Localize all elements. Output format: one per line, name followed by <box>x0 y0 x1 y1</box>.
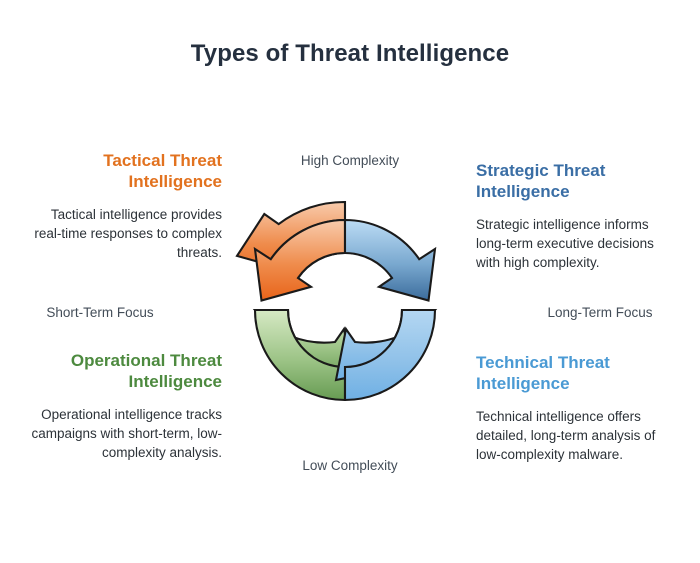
quadrant-operational-body: Operational intelligence tracks campaign… <box>22 405 222 462</box>
quadrant-technical-heading: Technical Threat Intelligence <box>476 352 672 395</box>
diagram-canvas: Types of Threat Intelligence High Comple… <box>0 0 700 563</box>
quadrant-operational-heading: Operational Threat Intelligence <box>22 350 222 393</box>
quadrant-strategic-heading: Strategic Threat Intelligence <box>476 160 672 203</box>
quadrant-technical: Technical Threat Intelligence Technical … <box>476 352 672 464</box>
arrow-segment-strategic <box>345 220 435 301</box>
quadrant-operational: Operational Threat Intelligence Operatio… <box>22 350 222 462</box>
axis-label-short-term-focus: Short-Term Focus <box>0 305 200 320</box>
quadrant-tactical-heading: Tactical Threat Intelligence <box>22 150 222 193</box>
quadrant-strategic: Strategic Threat Intelligence Strategic … <box>476 160 672 272</box>
quadrant-strategic-body: Strategic intelligence informs long-term… <box>476 215 672 272</box>
cycle-svg <box>232 190 458 440</box>
axis-label-long-term-focus: Long-Term Focus <box>500 305 700 320</box>
cyclic-arrow-ring <box>232 190 458 440</box>
quadrant-technical-body: Technical intelligence offers detailed, … <box>476 407 672 464</box>
quadrant-tactical: Tactical Threat Intelligence Tactical in… <box>22 150 222 262</box>
quadrant-tactical-body: Tactical intelligence provides real-time… <box>22 205 222 262</box>
page-title: Types of Threat Intelligence <box>0 40 700 68</box>
